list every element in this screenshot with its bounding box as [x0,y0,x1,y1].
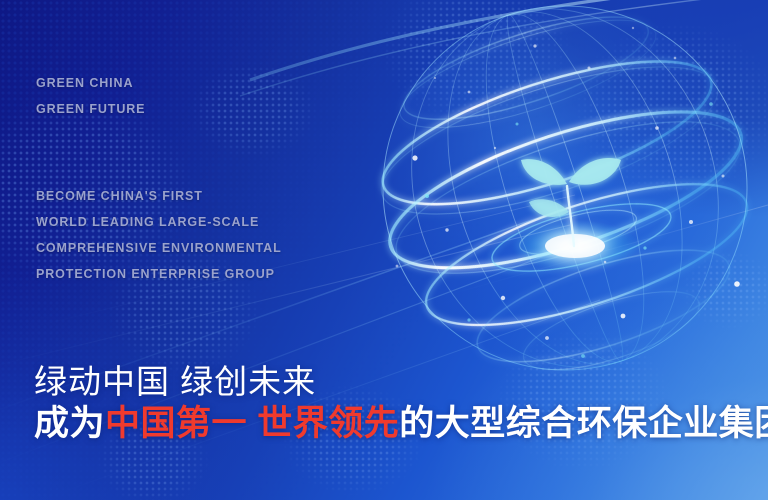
mission-statement-english: BECOME CHINA'S FIRST WORLD LEADING LARGE… [36,183,282,287]
mission-line: PROTECTION ENTERPRISE GROUP [36,261,282,287]
headline-prefix: 成为 [34,404,105,443]
slogan-line: GREEN CHINA [36,70,145,96]
mission-line: COMPREHENSIVE ENVIRONMENTAL [36,235,282,261]
headline-line-1: 绿动中国 绿创未来 [34,362,754,402]
slogan-english: GREEN CHINA GREEN FUTURE [36,70,145,122]
mission-line: WORLD LEADING LARGE-SCALE [36,209,282,235]
promotional-banner: GREEN CHINA GREEN FUTURE BECOME CHINA'S … [0,0,768,500]
mission-line: BECOME CHINA'S FIRST [36,183,282,209]
headline-highlight: 中国第一 世界领先 [105,404,399,443]
headline-line-2: 成为中国第一 世界领先的大型综合环保企业集团 [34,402,754,446]
headline-suffix: 的大型综合环保企业集团 [399,404,768,443]
slogan-line: GREEN FUTURE [36,96,145,122]
headline-chinese: 绿动中国 绿创未来 成为中国第一 世界领先的大型综合环保企业集团 [34,362,754,446]
